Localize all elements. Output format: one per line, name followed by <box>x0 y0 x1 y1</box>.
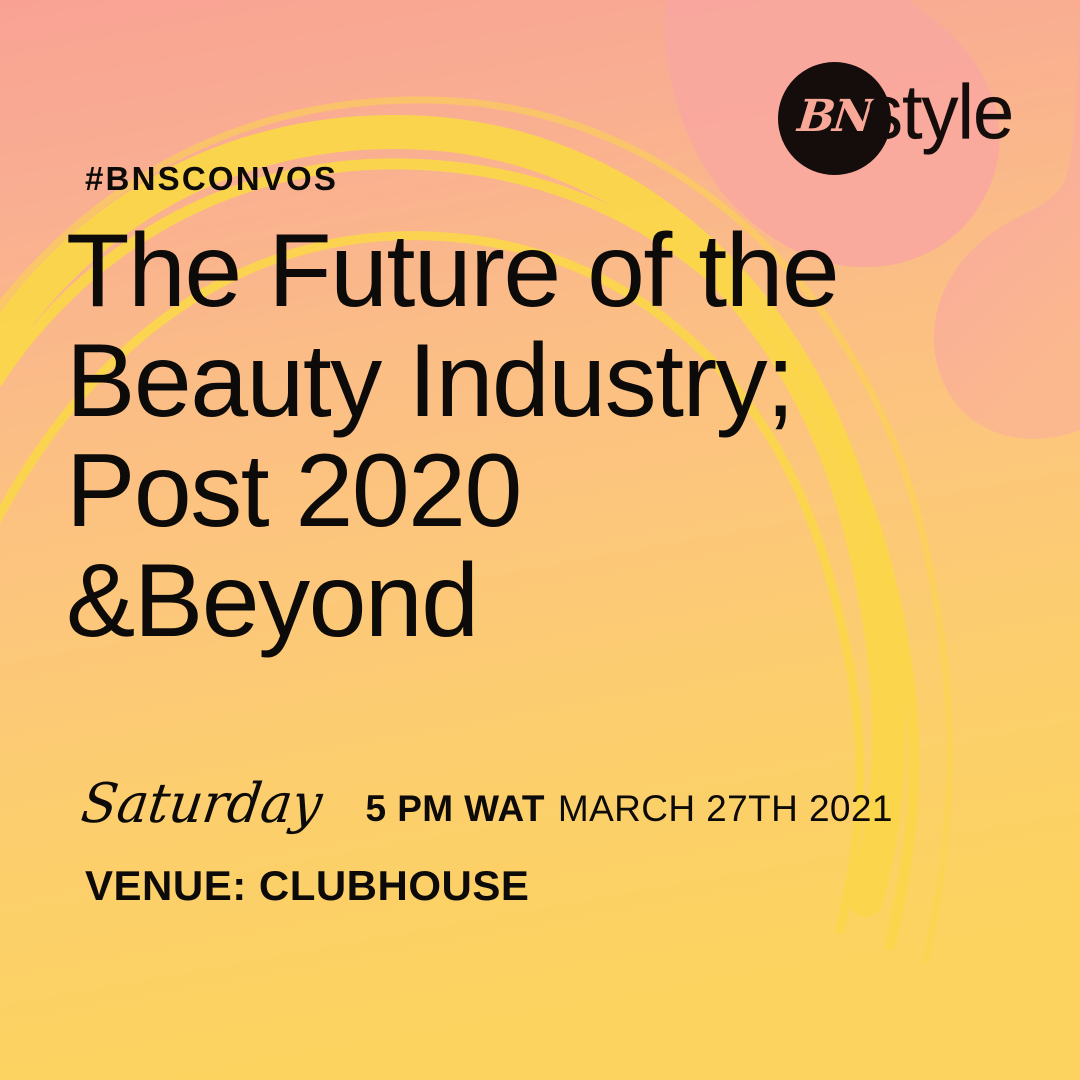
event-dateline: Saturday 5 PM WAT MARCH 27TH 2021 <box>82 778 893 830</box>
headline-title: The Future of the Beauty Industry; Post … <box>66 216 946 656</box>
headline-line-3: Post 2020 <box>66 436 946 546</box>
logo-style-wordmark: style <box>866 74 1013 151</box>
headline-line-4: &Beyond <box>66 546 946 656</box>
headline-line-1: The Future of the <box>66 216 946 326</box>
event-venue: VENUE: CLUBHOUSE <box>85 862 529 910</box>
event-time: 5 PM WAT <box>366 790 545 827</box>
hashtag-label: #BNSCONVOS <box>85 160 338 198</box>
event-flyer-poster: BN style #BNSCONVOS The Future of the Be… <box>0 0 1080 1080</box>
bn-style-logo[interactable]: BN style <box>778 60 1028 180</box>
event-day-script: Saturday <box>78 777 325 832</box>
event-date: MARCH 27TH 2021 <box>558 790 893 827</box>
headline-line-2: Beauty Industry; <box>66 326 946 436</box>
